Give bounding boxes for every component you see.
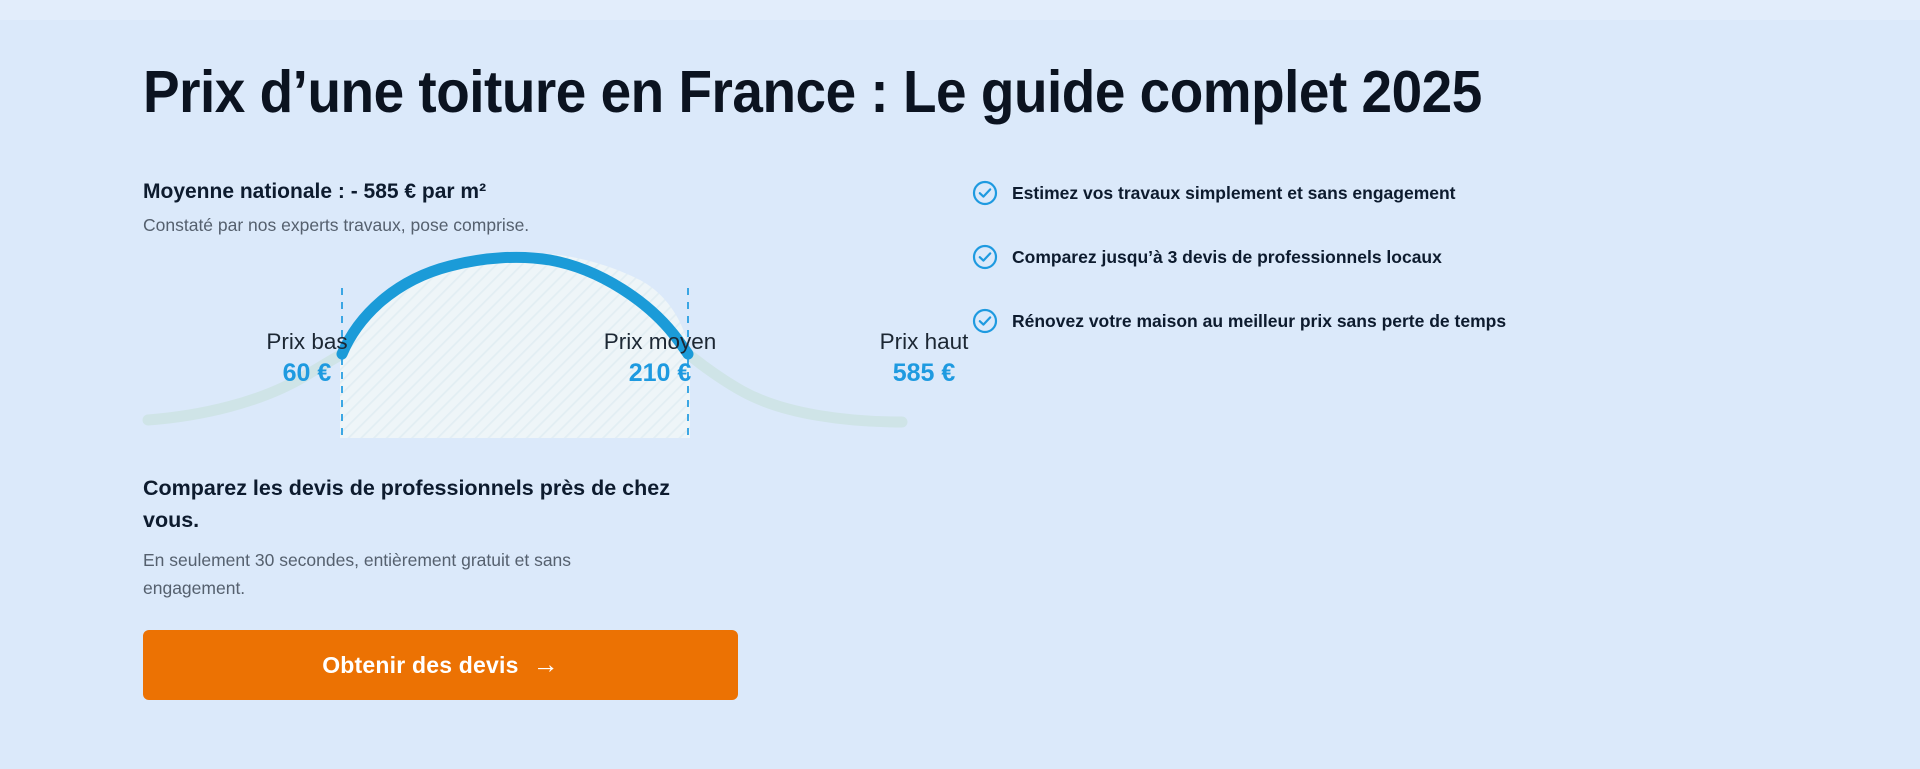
checklist-item: Comparez jusqu’à 3 devis de professionne… bbox=[972, 242, 1772, 272]
average-price-subtext: Constaté par nos experts travaux, pose c… bbox=[143, 213, 923, 237]
benefits-checklist: Estimez vos travaux simplement et sans e… bbox=[972, 178, 1772, 370]
cta-subtext: En seulement 30 secondes, entièrement gr… bbox=[143, 546, 643, 602]
checklist-item-label: Rénovez votre maison au meilleur prix sa… bbox=[1012, 309, 1506, 333]
checklist-item: Estimez vos travaux simplement et sans e… bbox=[972, 178, 1772, 208]
checklist-item: Rénovez votre maison au meilleur prix sa… bbox=[972, 306, 1772, 336]
check-circle-icon bbox=[972, 180, 998, 206]
page-title: Prix d’une toiture en France : Le guide … bbox=[143, 56, 1668, 128]
check-circle-icon bbox=[972, 244, 998, 270]
price-range-bell-curve-chart: Prix bas 60 € Prix moyen 210 € Prix haut… bbox=[130, 248, 920, 438]
check-circle-icon bbox=[972, 308, 998, 334]
hero-section: Prix d’une toiture en France : Le guide … bbox=[0, 0, 1920, 769]
cta-block: Comparez les devis de professionnels prè… bbox=[143, 472, 763, 700]
curve-left-tail bbox=[148, 354, 342, 420]
checklist-item-label: Estimez vos travaux simplement et sans e… bbox=[1012, 181, 1456, 205]
average-price-block: Moyenne nationale : - 585 € par m² Const… bbox=[143, 178, 923, 237]
curve-right-tail bbox=[688, 354, 902, 422]
cta-heading: Comparez les devis de professionnels prè… bbox=[143, 472, 713, 536]
bell-curve-svg bbox=[130, 248, 920, 438]
checklist-item-label: Comparez jusqu’à 3 devis de professionne… bbox=[1012, 245, 1442, 269]
get-quotes-button-label: Obtenir des devis bbox=[322, 652, 518, 679]
get-quotes-button[interactable]: Obtenir des devis → bbox=[143, 630, 738, 700]
average-price-headline: Moyenne nationale : - 585 € par m² bbox=[143, 178, 923, 206]
mid-range-fill-base bbox=[340, 356, 690, 438]
arrow-right-icon: → bbox=[533, 651, 559, 677]
